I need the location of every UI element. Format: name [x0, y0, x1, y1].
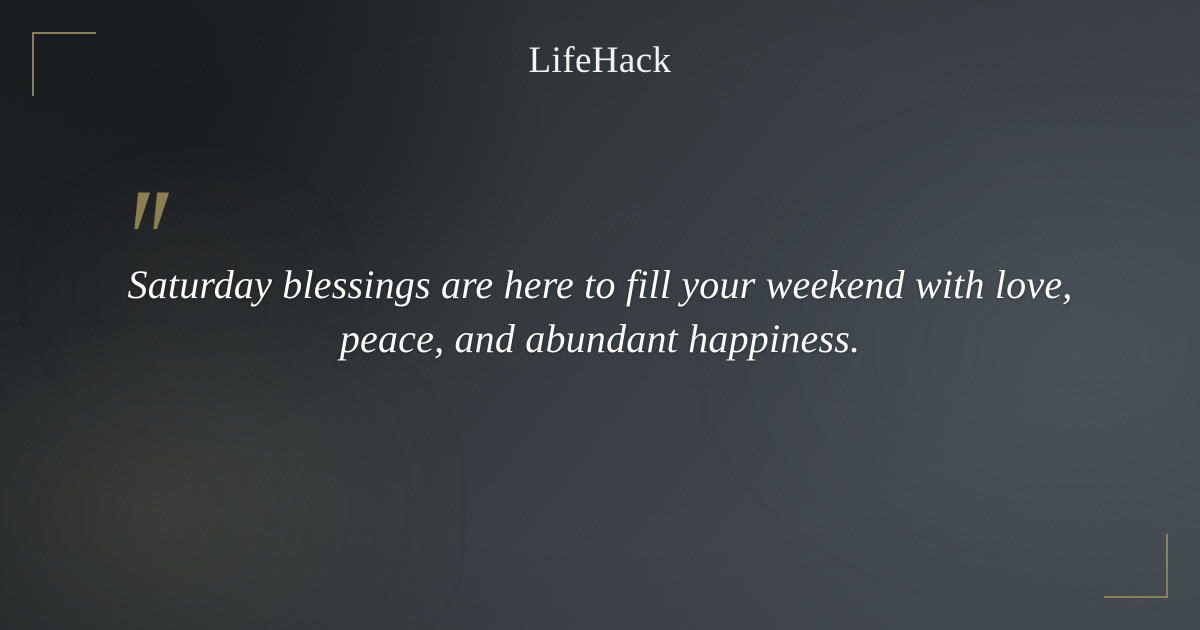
quote-text: Saturday blessings are here to fill your… — [100, 258, 1100, 366]
corner-bracket-bottom-right-icon — [1104, 534, 1168, 598]
brand-logo: LifeHack — [0, 40, 1200, 82]
warm-lowerleft-glow — [0, 330, 460, 630]
quote-block: Saturday blessings are here to fill your… — [100, 190, 1100, 366]
quote-card: LifeHack Saturday blessings are here to … — [0, 0, 1200, 630]
quote-mark-icon — [130, 190, 1100, 248]
